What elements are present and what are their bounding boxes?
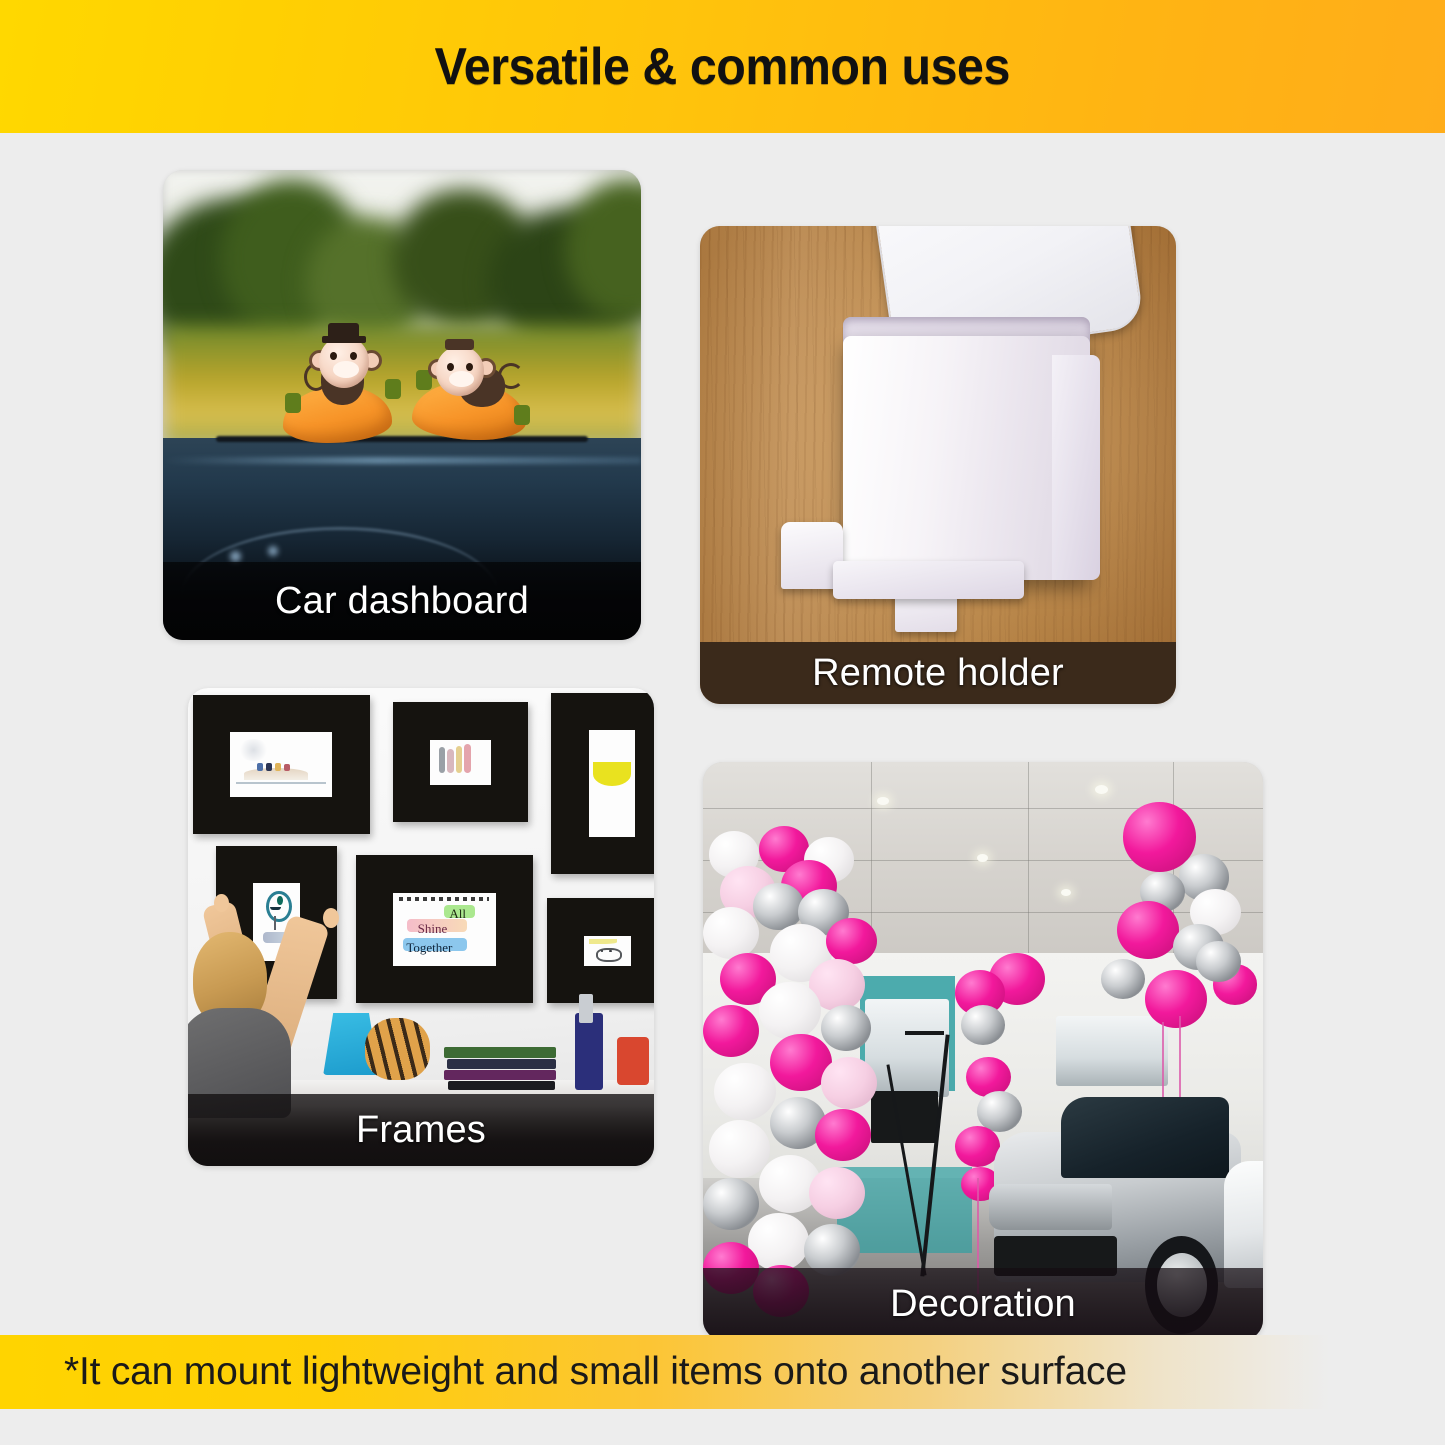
- use-case-card-frames[interactable]: All Shine Together: [188, 688, 654, 1166]
- footer-banner: *It can mount lightweight and small item…: [0, 1335, 1445, 1409]
- card-caption-label: Remote holder: [812, 652, 1064, 695]
- use-case-card-decoration[interactable]: Decoration: [703, 762, 1263, 1340]
- card-caption-label: Frames: [356, 1109, 486, 1152]
- card-caption: Frames: [188, 1094, 654, 1166]
- footer-note: *It can mount lightweight and small item…: [0, 1350, 1127, 1394]
- card-caption: Car dashboard: [163, 562, 641, 640]
- header-banner: Versatile & common uses: [0, 0, 1445, 133]
- card-caption: Remote holder: [700, 642, 1176, 704]
- card-caption: Decoration: [703, 1268, 1263, 1340]
- page-title: Versatile & common uses: [435, 37, 1010, 97]
- decoration-photo: [703, 762, 1263, 1340]
- card-caption-label: Car dashboard: [275, 580, 529, 623]
- use-case-card-car-dashboard[interactable]: Car dashboard: [163, 170, 641, 640]
- card-caption-label: Decoration: [890, 1283, 1076, 1326]
- remote-holder-photo: [700, 226, 1176, 704]
- use-case-card-remote-holder[interactable]: Remote holder: [700, 226, 1176, 704]
